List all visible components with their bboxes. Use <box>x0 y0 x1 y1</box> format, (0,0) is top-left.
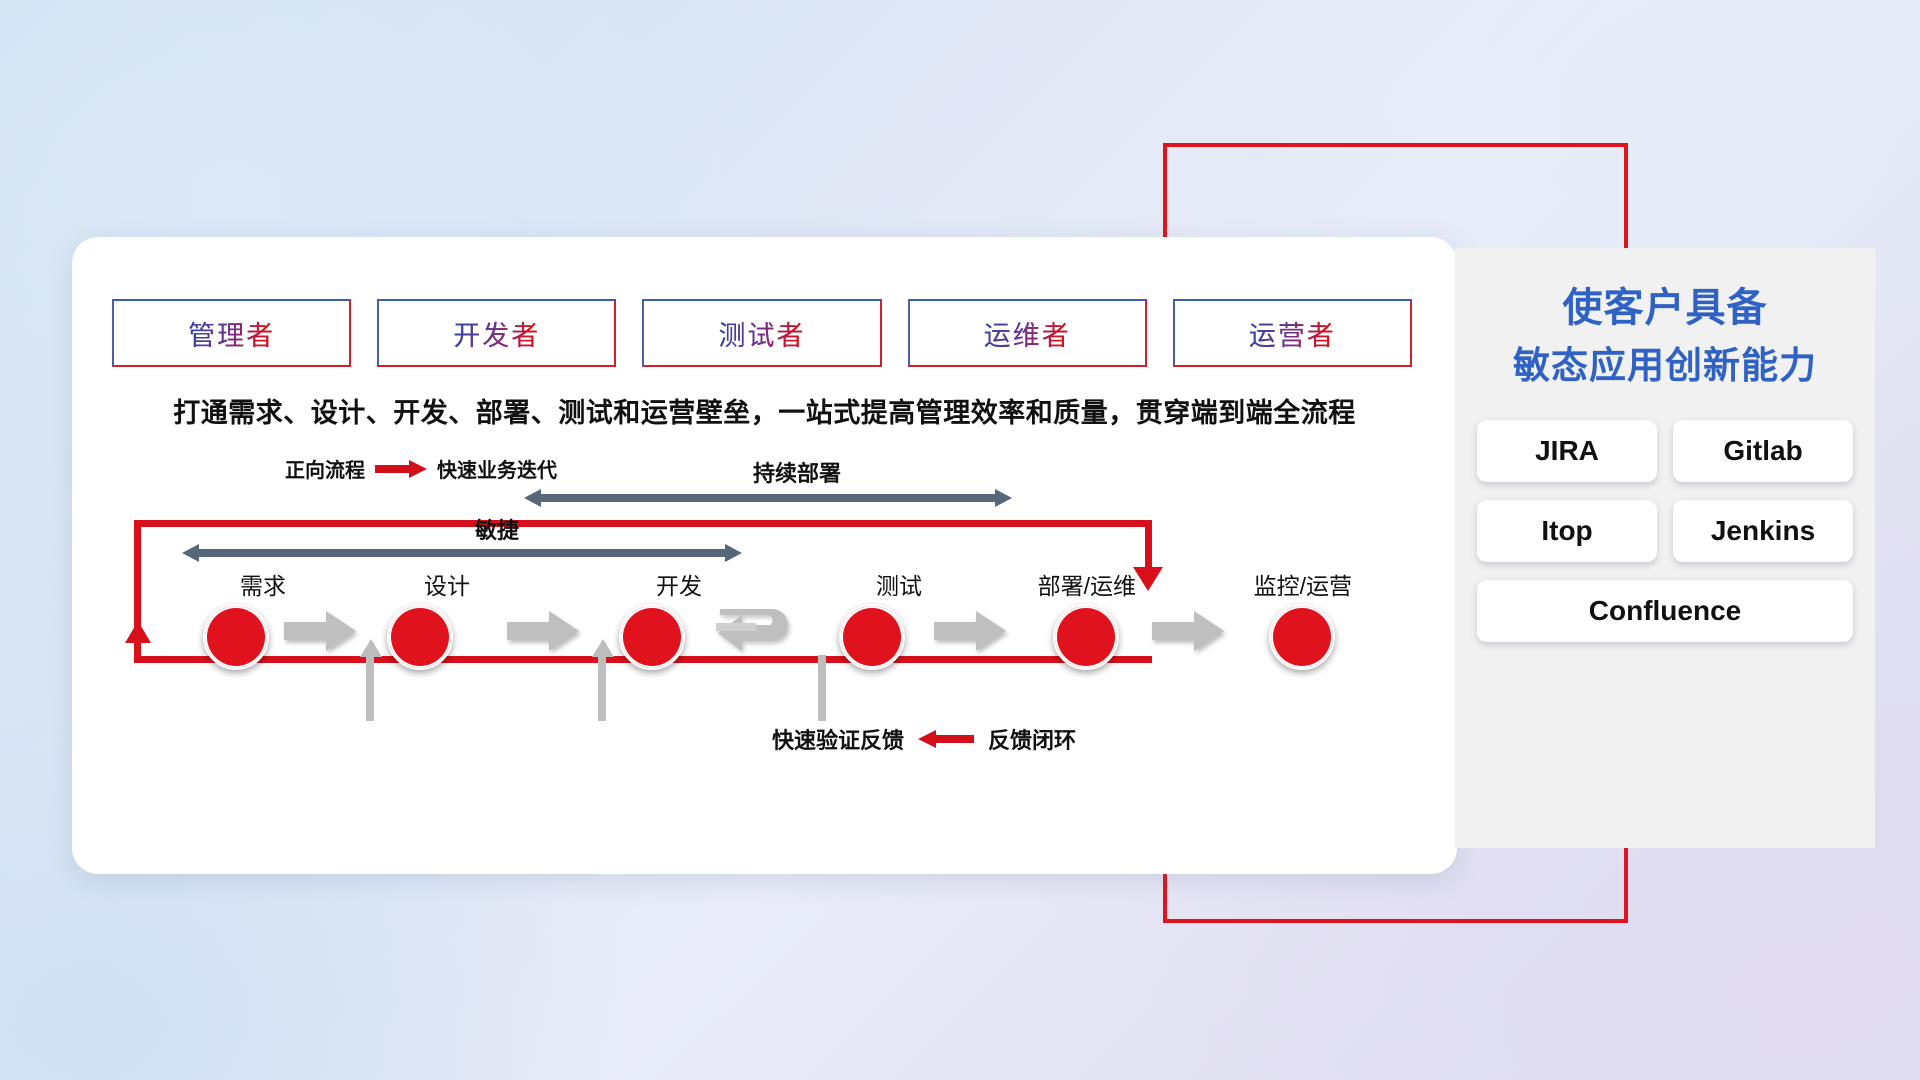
stage-label: 需求 <box>240 567 286 601</box>
tool-chip-list: JIRA Gitlab Itop Jenkins Confluence <box>1477 420 1853 642</box>
span-label-agile: 敏捷 <box>362 513 632 545</box>
stage-dot <box>387 604 453 670</box>
stage-dot <box>1269 604 1335 670</box>
capability-panel: 使客户具备 敏态应用创新能力 JIRA Gitlab Itop Jenkins … <box>1455 248 1875 848</box>
legend-forward-right-label: 快速业务迭代 <box>437 454 557 483</box>
legend-forward-left-label: 正向流程 <box>285 454 365 483</box>
arrow-head-right-icon <box>725 544 742 562</box>
capability-title-line-2: 敏态应用创新能力 <box>1477 338 1853 394</box>
arrow-head-left-icon <box>182 544 199 562</box>
stage-test[interactable]: 测试 <box>822 567 922 670</box>
stage-requirements[interactable]: 需求 <box>186 567 286 670</box>
stage-deploy-ops[interactable]: 部署/运维 <box>1036 567 1136 670</box>
tool-chip-gitlab[interactable]: Gitlab <box>1673 420 1853 482</box>
role-label: 运营者 <box>1249 314 1336 353</box>
arrow-right-red-icon <box>375 462 427 475</box>
tool-chip-label: JIRA <box>1535 435 1599 467</box>
role-box-manager[interactable]: 管理者 <box>112 299 351 367</box>
flow-arrow-3-icon <box>934 611 1006 651</box>
stage-dot <box>1053 604 1119 670</box>
tool-chip-itop[interactable]: Itop <box>1477 500 1657 562</box>
arrow-head-right-icon <box>995 489 1012 507</box>
stage-label: 部署/运维 <box>1038 567 1136 601</box>
legend-feedback-right-label: 反馈闭环 <box>988 723 1076 755</box>
tool-chip-jira[interactable]: JIRA <box>1477 420 1657 482</box>
stage-label: 监控/运营 <box>1254 567 1352 601</box>
legend-feedback-loop: 快速验证反馈 反馈闭环 <box>772 723 1076 755</box>
role-label: 开发者 <box>453 314 540 353</box>
stage-label: 开发 <box>656 567 702 601</box>
tool-chip-label: Itop <box>1541 515 1592 547</box>
tool-chip-label: Confluence <box>1589 595 1741 627</box>
arrow-head-left-icon <box>524 489 541 507</box>
arrow-bar <box>540 494 996 502</box>
stage-dot <box>839 604 905 670</box>
tool-chip-jenkins[interactable]: Jenkins <box>1673 500 1853 562</box>
stage-monitor-operations[interactable]: 监控/运营 <box>1252 567 1352 670</box>
role-box-ops[interactable]: 运维者 <box>908 299 1147 367</box>
capability-panel-title: 使客户具备 敏态应用创新能力 <box>1477 278 1853 394</box>
tool-chip-label: Gitlab <box>1723 435 1802 467</box>
legend-feedback-left-label: 快速验证反馈 <box>772 723 904 755</box>
stage-develop[interactable]: 开发 <box>602 567 702 670</box>
pipeline-row: 需求 设计 开发 测试 部署/运维 监控/运营 <box>112 567 1417 677</box>
stage-dot <box>619 604 685 670</box>
feedback-loop-top-line <box>134 520 1152 527</box>
flow-arrow-4-icon <box>1152 611 1224 651</box>
arrow-left-red-icon <box>918 732 974 746</box>
stage-label: 测试 <box>876 567 922 601</box>
arrow-bar <box>198 549 726 557</box>
main-diagram-card: 管理者 开发者 测试者 运维者 运营者 打通需求、设计、开发、部署、测试和运营壁… <box>72 237 1457 874</box>
tool-chip-label: Jenkins <box>1711 515 1815 547</box>
double-arrow-continuous-deployment-icon <box>524 489 1012 507</box>
role-label: 运维者 <box>984 314 1071 353</box>
iteration-loop-arrow-icon <box>712 599 812 665</box>
role-label: 测试者 <box>719 314 806 353</box>
role-label: 管理者 <box>188 314 275 353</box>
legend-forward-flow: 正向流程 快速业务迭代 <box>285 454 557 483</box>
flow-arrow-2-icon <box>507 611 579 651</box>
role-box-tester[interactable]: 测试者 <box>642 299 881 367</box>
span-label-continuous-deployment: 持续部署 <box>632 456 962 488</box>
double-arrow-agile-icon <box>182 544 742 562</box>
subtitle-text: 打通需求、设计、开发、部署、测试和运营壁垒，一站式提高管理效率和质量，贯穿端到端… <box>72 391 1457 430</box>
tool-chip-confluence[interactable]: Confluence <box>1477 580 1853 642</box>
stage-dot <box>203 604 269 670</box>
stage-label: 设计 <box>424 567 470 601</box>
role-box-row: 管理者 开发者 测试者 运维者 运营者 <box>112 299 1412 367</box>
role-box-developer[interactable]: 开发者 <box>377 299 616 367</box>
capability-title-line-1: 使客户具备 <box>1477 278 1853 338</box>
flow-arrow-1-icon <box>284 611 356 651</box>
stage-design[interactable]: 设计 <box>370 567 470 670</box>
feedback-loop-right-line <box>1145 520 1152 572</box>
role-box-operations[interactable]: 运营者 <box>1173 299 1412 367</box>
